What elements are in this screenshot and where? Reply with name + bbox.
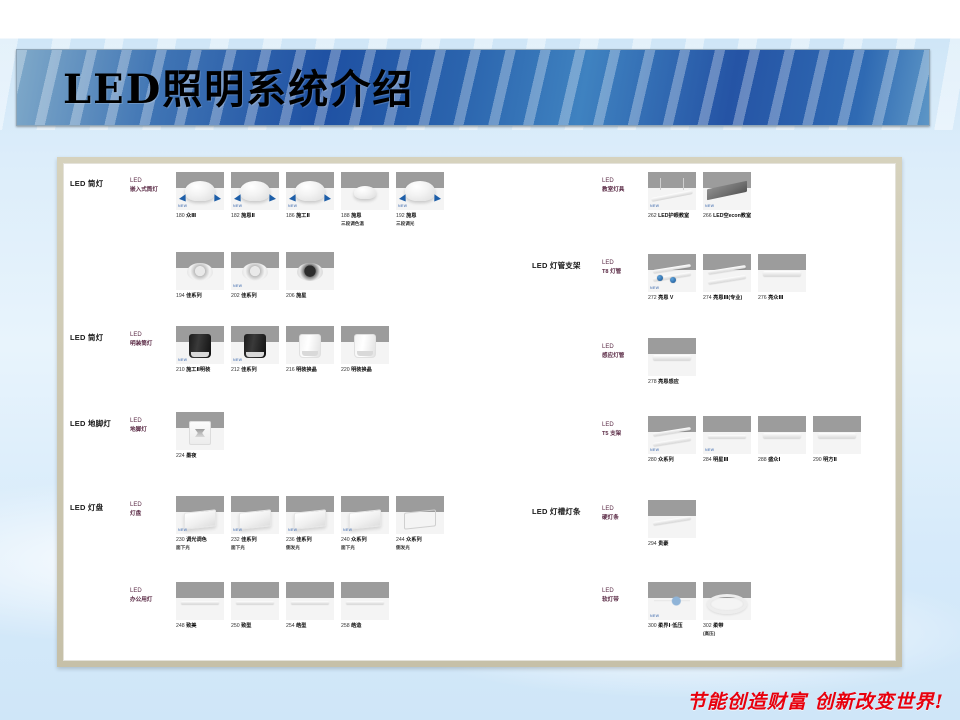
product-caption: 274 亮恩Ⅲ(专业) xyxy=(703,295,751,303)
thumb-top-band xyxy=(648,500,696,516)
new-badge: NEW xyxy=(705,204,714,208)
product-caption: 194 佳系列 xyxy=(176,293,224,301)
product-thumbnail xyxy=(286,326,334,364)
catalog-panel: LED 筒灯LED嵌入式筒灯NEW180 众ⅢNEW182 施恩ⅡNEW186 … xyxy=(63,163,896,661)
subcategory-label: LED办公用灯 xyxy=(130,587,152,605)
panel-light-shape xyxy=(349,509,381,529)
arrow-left-icon xyxy=(290,196,298,202)
new-badge: NEW xyxy=(288,528,297,532)
new-badge: NEW xyxy=(398,204,407,208)
product-thumbnail xyxy=(341,326,389,364)
subcategory-label: LED软灯带 xyxy=(602,587,619,605)
product-row: 278 亮恩感应 xyxy=(648,338,703,387)
product-name: 盛众Ⅰ xyxy=(767,457,781,463)
product-caption: 254 皓型 xyxy=(286,623,334,631)
new-badge: NEW xyxy=(650,614,659,618)
catalog-frame: LED 筒灯LED嵌入式筒灯NEW180 众ⅢNEW182 施恩ⅡNEW186 … xyxy=(57,157,902,667)
product-thumbnail xyxy=(286,582,334,620)
product-item[interactable]: NEW232 佳系列面下光 xyxy=(231,496,279,552)
product-name: 施工Ⅱ明装 xyxy=(185,367,211,373)
subcategory-cn: 灯盘 xyxy=(130,511,141,517)
arrow-right-icon xyxy=(322,196,330,202)
subcategory-en: LED xyxy=(130,331,152,340)
product-name: 皓造 xyxy=(350,623,362,629)
product-number: 236 xyxy=(286,537,295,543)
product-number: 254 xyxy=(286,623,295,629)
product-number: 240 xyxy=(341,537,350,543)
product-thumbnail: NEW xyxy=(176,496,224,534)
product-subcaption: 三段调色温 xyxy=(341,221,389,228)
thumb-top-band xyxy=(341,582,389,598)
product-item[interactable]: 206 施星 xyxy=(286,252,334,301)
product-number: 274 xyxy=(703,295,712,301)
product-thumbnail: NEW xyxy=(341,496,389,534)
thumb-top-band xyxy=(813,416,861,432)
product-caption: 244 众系列侧发光 xyxy=(396,537,444,552)
product-row: NEW262 LED护眼教室NEW266 LED空econ教室 xyxy=(648,172,758,221)
product-subcaption: 侧发光 xyxy=(396,545,444,552)
product-caption: 280 众系列 xyxy=(648,457,696,465)
product-name: 众系列 xyxy=(350,537,367,543)
product-item[interactable]: NEW262 LED护眼教室 xyxy=(648,172,696,221)
product-name: 施恩 xyxy=(405,213,417,219)
subcategory-en: LED xyxy=(602,505,619,514)
product-name: 明装换晶 xyxy=(350,367,372,373)
new-badge: NEW xyxy=(650,204,659,208)
footlight-shape xyxy=(189,421,211,445)
downlight-ring-shape xyxy=(242,263,268,281)
product-name: 墨夜 xyxy=(185,453,197,459)
product-caption: 266 LED空econ教室 xyxy=(703,213,751,221)
product-number: 276 xyxy=(758,295,767,301)
blue-cap-icon xyxy=(670,277,676,283)
product-number: 220 xyxy=(341,367,350,373)
product-thumbnail: NEW xyxy=(703,172,751,210)
product-thumbnail xyxy=(176,252,224,290)
blue-cap-icon xyxy=(657,275,663,281)
product-caption: 220 明装换晶 xyxy=(341,367,389,375)
product-number: 258 xyxy=(341,623,350,629)
led-strip-shape xyxy=(654,590,690,612)
tube-shape xyxy=(763,433,801,438)
slide-background: LED照明系统介绍 LED 筒灯LED嵌入式筒灯NEW180 众ⅢNEW182 … xyxy=(0,0,960,720)
thumb-top-band xyxy=(231,582,279,598)
product-number: 192 xyxy=(396,213,405,219)
new-badge: NEW xyxy=(288,204,297,208)
product-item[interactable]: NEW272 亮恩 V xyxy=(648,254,696,303)
subcategory-cn: 教室灯具 xyxy=(602,187,624,193)
product-name: 佳系列 xyxy=(185,293,202,299)
product-name: 明方Ⅱ xyxy=(822,457,837,463)
product-number: 272 xyxy=(648,295,657,301)
pendant-fixture-shape xyxy=(651,178,693,204)
product-thumbnail: NEW xyxy=(396,172,444,210)
product-name: 众Ⅲ xyxy=(185,213,197,219)
product-number: 216 xyxy=(286,367,295,373)
page-title: LED照明系统介绍 xyxy=(63,57,414,115)
product-number: 188 xyxy=(341,213,350,219)
product-item[interactable]: 250 致型 xyxy=(231,582,279,631)
product-caption: 302 柔带(高压) xyxy=(703,623,751,638)
column-divider xyxy=(519,164,520,660)
product-name: 施星 xyxy=(295,293,307,299)
product-name: 佳系列 xyxy=(295,537,312,543)
product-name: 亮众Ⅲ xyxy=(767,295,784,301)
arrow-left-icon xyxy=(180,196,188,202)
product-name: 致美 xyxy=(185,623,197,629)
product-subcaption: 三段调光 xyxy=(396,221,444,228)
product-caption: 192 施恩三段调光 xyxy=(396,213,444,228)
product-caption: 212 佳系列 xyxy=(231,367,279,375)
product-caption: 188 施恩三段调色温 xyxy=(341,213,389,228)
product-thumbnail xyxy=(703,254,751,292)
product-item[interactable]: 278 亮恩感应 xyxy=(648,338,696,387)
product-thumbnail xyxy=(758,254,806,292)
product-thumbnail: NEW xyxy=(176,172,224,210)
product-number: 266 xyxy=(703,213,712,219)
tube-shape xyxy=(181,601,219,604)
thumb-top-band xyxy=(286,496,334,512)
subcategory-en: LED xyxy=(602,421,621,430)
surface-downlight-shape xyxy=(354,334,376,358)
product-item[interactable]: NEW202 佳系列 xyxy=(231,252,279,301)
product-item[interactable]: 224 墨夜 xyxy=(176,412,224,461)
product-caption: 224 墨夜 xyxy=(176,453,224,461)
subcategory-label: LED感应灯管 xyxy=(602,343,624,361)
product-number: 280 xyxy=(648,457,657,463)
product-caption: 236 佳系列侧发光 xyxy=(286,537,334,552)
product-name: 众系列 xyxy=(405,537,422,543)
thumb-top-band xyxy=(758,416,806,432)
subcategory-cn: 感应灯管 xyxy=(602,353,624,359)
product-thumbnail: NEW xyxy=(286,496,334,534)
subcategory-cn: 嵌入式筒灯 xyxy=(130,187,158,193)
subcategory-cn: 硬灯条 xyxy=(602,515,619,521)
subcategory-label: LEDT5 支架 xyxy=(602,421,621,439)
product-thumbnail: NEW xyxy=(703,416,751,454)
product-caption: 202 佳系列 xyxy=(231,293,279,301)
product-thumbnail: NEW xyxy=(648,416,696,454)
product-item[interactable]: 194 佳系列 xyxy=(176,252,224,301)
subcategory-en: LED xyxy=(130,417,147,426)
product-caption: 180 众Ⅲ xyxy=(176,213,224,221)
product-thumbnail xyxy=(648,500,696,538)
product-name: 施工Ⅱ xyxy=(295,213,310,219)
arrow-left-icon xyxy=(400,196,408,202)
surface-downlight-shape xyxy=(244,334,266,358)
tube-shape xyxy=(346,601,384,604)
subcategory-label: LED灯盘 xyxy=(130,501,142,519)
category-label: LED 灯槽灯条 xyxy=(532,506,581,517)
thumb-top-band xyxy=(176,496,224,512)
category-label: LED 灯盘 xyxy=(70,502,103,513)
product-thumbnail xyxy=(396,496,444,534)
product-caption: 216 明装换晶 xyxy=(286,367,334,375)
product-row: NEW210 施工Ⅱ明装NEW212 佳系列216 明装换晶220 明装换晶 xyxy=(176,326,396,375)
product-number: 210 xyxy=(176,367,185,373)
product-subcaption: 侧发光 xyxy=(286,545,334,552)
product-caption: 284 明星Ⅲ xyxy=(703,457,751,465)
product-item[interactable]: NEW186 施工Ⅱ xyxy=(286,172,334,228)
product-thumbnail: NEW xyxy=(176,326,224,364)
product-number: 300 xyxy=(648,623,657,629)
thumb-top-band xyxy=(648,338,696,354)
product-item[interactable]: 288 盛众Ⅰ xyxy=(758,416,806,465)
product-number: 302 xyxy=(703,623,712,629)
product-number: 232 xyxy=(231,537,240,543)
product-name: 佳系列 xyxy=(240,293,257,299)
subcategory-cn: 明装筒灯 xyxy=(130,341,152,347)
product-caption: 210 施工Ⅱ明装 xyxy=(176,367,224,375)
product-number: 244 xyxy=(396,537,405,543)
subcategory-cn: 地脚灯 xyxy=(130,427,147,433)
panel-light-shape xyxy=(404,509,436,529)
product-thumbnail xyxy=(176,582,224,620)
product-caption: 300 柔界Ⅰ·低压 xyxy=(648,623,696,631)
product-thumbnail xyxy=(176,412,224,450)
product-item[interactable]: NEW240 众系列面下光 xyxy=(341,496,389,552)
product-item[interactable]: NEW230 调光调色面下光 xyxy=(176,496,224,552)
tube-shape xyxy=(653,355,691,360)
product-thumbnail xyxy=(286,252,334,290)
product-row: 294 贵豪 xyxy=(648,500,703,549)
new-badge: NEW xyxy=(705,448,714,452)
arrow-right-icon xyxy=(212,196,220,202)
product-name: 调光调色 xyxy=(185,537,207,543)
product-name: LED空econ教室 xyxy=(712,213,752,219)
product-item[interactable]: 294 贵豪 xyxy=(648,500,696,549)
product-row: 248 致美250 致型254 皓型258 皓造 xyxy=(176,582,396,631)
new-badge: NEW xyxy=(233,358,242,362)
product-thumbnail: NEW xyxy=(231,326,279,364)
product-number: 288 xyxy=(758,457,767,463)
product-number: 186 xyxy=(286,213,295,219)
product-item[interactable]: 220 明装换晶 xyxy=(341,326,389,375)
led-coil-shape xyxy=(707,594,747,614)
product-name: 明星Ⅲ xyxy=(712,457,729,463)
product-name: 柔带 xyxy=(712,623,724,629)
new-badge: NEW xyxy=(178,204,187,208)
new-badge: NEW xyxy=(178,528,187,532)
product-caption: 182 施恩Ⅱ xyxy=(231,213,279,221)
product-row: NEW180 众ⅢNEW182 施恩ⅡNEW186 施工Ⅱ188 施恩三段调色温… xyxy=(176,172,451,228)
subcategory-en: LED xyxy=(602,343,624,352)
product-item[interactable]: NEW280 众系列 xyxy=(648,416,696,465)
product-item[interactable]: NEW300 柔界Ⅰ·低压 xyxy=(648,582,696,638)
subcategory-cn: T5 支架 xyxy=(602,431,621,437)
new-badge: NEW xyxy=(233,284,242,288)
panel-light-shape xyxy=(239,509,271,529)
subcategory-cn: 办公用灯 xyxy=(130,597,152,603)
new-badge: NEW xyxy=(178,358,187,362)
thumb-top-band xyxy=(703,416,751,432)
product-subcaption: 面下光 xyxy=(231,545,279,552)
product-item[interactable]: 244 众系列侧发光 xyxy=(396,496,444,552)
product-caption: 258 皓造 xyxy=(341,623,389,631)
product-item[interactable]: NEW212 佳系列 xyxy=(231,326,279,375)
new-badge: NEW xyxy=(343,528,352,532)
arrow-right-icon xyxy=(267,196,275,202)
category-label: LED 灯管支架 xyxy=(532,260,581,271)
category-label: LED 筒灯 xyxy=(70,178,103,189)
product-name: 佳系列 xyxy=(240,537,257,543)
product-number: 206 xyxy=(286,293,295,299)
product-item[interactable]: NEW182 施恩Ⅱ xyxy=(231,172,279,228)
product-name: 众系列 xyxy=(657,457,674,463)
product-caption: 278 亮恩感应 xyxy=(648,379,696,387)
product-thumbnail xyxy=(341,582,389,620)
product-name: 亮恩 V xyxy=(657,295,674,301)
product-caption: 250 致型 xyxy=(231,623,279,631)
product-caption: 248 致美 xyxy=(176,623,224,631)
product-item[interactable]: NEW180 众Ⅲ xyxy=(176,172,224,228)
product-thumbnail: NEW xyxy=(231,172,279,210)
product-item[interactable]: 188 施恩三段调色温 xyxy=(341,172,389,228)
new-badge: NEW xyxy=(233,528,242,532)
new-badge: NEW xyxy=(233,204,242,208)
product-thumbnail: NEW xyxy=(648,254,696,292)
product-thumbnail xyxy=(758,416,806,454)
subcategory-en: LED xyxy=(130,587,152,596)
product-row: NEW230 调光调色面下光NEW232 佳系列面下光NEW236 佳系列侧发光… xyxy=(176,496,451,552)
product-number: 194 xyxy=(176,293,185,299)
product-number: 262 xyxy=(648,213,657,219)
new-badge: NEW xyxy=(650,286,659,290)
tube-shape xyxy=(763,271,801,276)
product-thumbnail: NEW xyxy=(231,252,279,290)
subcategory-en: LED xyxy=(602,177,624,186)
product-thumbnail xyxy=(703,582,751,620)
product-number: 212 xyxy=(231,367,240,373)
product-subcaption: 面下光 xyxy=(341,545,389,552)
product-number: 278 xyxy=(648,379,657,385)
product-thumbnail xyxy=(231,582,279,620)
product-item[interactable]: NEW210 施工Ⅱ明装 xyxy=(176,326,224,375)
product-name: 施恩 xyxy=(350,213,362,219)
subcategory-cn: T8 灯管 xyxy=(602,269,621,275)
product-name: 佳系列 xyxy=(240,367,257,373)
product-item[interactable]: 274 亮恩Ⅲ(专业) xyxy=(703,254,751,303)
product-thumbnail xyxy=(813,416,861,454)
arrow-right-icon xyxy=(432,196,440,202)
surface-downlight-shape xyxy=(299,334,321,358)
product-item[interactable]: 216 明装换晶 xyxy=(286,326,334,375)
product-caption: 230 调光调色面下光 xyxy=(176,537,224,552)
product-name: LED护眼教室 xyxy=(657,213,690,219)
panel-light-shape xyxy=(294,509,326,529)
product-item[interactable]: 258 皓造 xyxy=(341,582,389,631)
subcategory-label: LED硬灯条 xyxy=(602,505,619,523)
product-row: 224 墨夜 xyxy=(176,412,231,461)
product-caption: 206 施星 xyxy=(286,293,334,301)
product-item[interactable]: 276 亮众Ⅲ xyxy=(758,254,806,303)
product-thumbnail: NEW xyxy=(231,496,279,534)
subcategory-label: LED嵌入式筒灯 xyxy=(130,177,158,195)
product-name: 明装换晶 xyxy=(295,367,317,373)
product-number: 182 xyxy=(231,213,240,219)
tube-shape xyxy=(708,435,746,438)
subcategory-label: LED地脚灯 xyxy=(130,417,147,435)
product-row: NEW272 亮恩 V274 亮恩Ⅲ(专业)276 亮众Ⅲ xyxy=(648,254,813,303)
downlight-dome-shape xyxy=(354,186,376,199)
thumb-top-band xyxy=(396,496,444,512)
product-number: 284 xyxy=(703,457,712,463)
product-caption: 294 贵豪 xyxy=(648,541,696,549)
product-number: 202 xyxy=(231,293,240,299)
product-thumbnail: NEW xyxy=(286,172,334,210)
product-item[interactable]: 290 明方Ⅱ xyxy=(813,416,861,465)
product-row: NEW300 柔界Ⅰ·低压302 柔带(高压) xyxy=(648,582,758,638)
subcategory-en: LED xyxy=(130,177,158,186)
product-caption: 262 LED护眼教室 xyxy=(648,213,696,221)
product-number: 230 xyxy=(176,537,185,543)
product-caption: 290 明方Ⅱ xyxy=(813,457,861,465)
product-number: 180 xyxy=(176,213,185,219)
product-thumbnail: NEW xyxy=(648,582,696,620)
slogan-text: 节能创造财富 创新改变世界! xyxy=(687,687,944,714)
product-row: 194 佳系列NEW202 佳系列206 施星 xyxy=(176,252,341,301)
product-caption: 272 亮恩 V xyxy=(648,295,696,303)
product-caption: 288 盛众Ⅰ xyxy=(758,457,806,465)
product-caption: 186 施工Ⅱ xyxy=(286,213,334,221)
product-item[interactable]: 302 柔带(高压) xyxy=(703,582,751,638)
product-name: 施恩Ⅱ xyxy=(240,213,255,219)
subcategory-en: LED xyxy=(602,587,619,596)
product-name: 贵豪 xyxy=(657,541,669,547)
product-item[interactable]: NEW284 明星Ⅲ xyxy=(703,416,751,465)
product-subcaption: (高压) xyxy=(703,631,751,638)
product-row: NEW280 众系列NEW284 明星Ⅲ288 盛众Ⅰ290 明方Ⅱ xyxy=(648,416,868,465)
product-item[interactable]: NEW236 佳系列侧发光 xyxy=(286,496,334,552)
tube-shape xyxy=(818,433,856,438)
product-caption: 232 佳系列面下光 xyxy=(231,537,279,552)
product-thumbnail xyxy=(341,172,389,210)
arrow-left-icon xyxy=(235,196,243,202)
product-subcaption: 面下光 xyxy=(176,545,224,552)
slide-title-bar: LED照明系统介绍 xyxy=(16,49,930,126)
product-name: 皓型 xyxy=(295,623,307,629)
product-caption: 276 亮众Ⅲ xyxy=(758,295,806,303)
product-name: 柔界Ⅰ·低压 xyxy=(657,623,683,629)
product-number: 294 xyxy=(648,541,657,547)
tube-shape xyxy=(291,601,329,604)
product-thumbnail xyxy=(648,338,696,376)
product-caption: 240 众系列面下光 xyxy=(341,537,389,552)
product-name: 亮恩感应 xyxy=(657,379,679,385)
product-name: 致型 xyxy=(240,623,252,629)
subcategory-cn: 软灯带 xyxy=(602,597,619,603)
category-label: LED 地脚灯 xyxy=(70,418,111,429)
product-item[interactable]: NEW192 施恩三段调光 xyxy=(396,172,444,228)
product-item[interactable]: 254 皓型 xyxy=(286,582,334,631)
product-number: 250 xyxy=(231,623,240,629)
subcategory-en: LED xyxy=(602,259,621,268)
product-thumbnail: NEW xyxy=(648,172,696,210)
product-item[interactable]: NEW266 LED空econ教室 xyxy=(703,172,751,221)
product-item[interactable]: 248 致美 xyxy=(176,582,224,631)
product-number: 290 xyxy=(813,457,822,463)
tube-shape xyxy=(236,601,274,604)
thumb-top-band xyxy=(286,582,334,598)
downlight-ring-shape xyxy=(187,263,213,281)
thumb-top-band xyxy=(341,496,389,512)
subcategory-label: LED明装筒灯 xyxy=(130,331,152,349)
category-label: LED 筒灯 xyxy=(70,332,103,343)
thumb-top-band xyxy=(176,582,224,598)
product-name: 亮恩Ⅲ(专业) xyxy=(712,295,743,301)
subcategory-label: LEDT8 灯管 xyxy=(602,259,621,277)
subcategory-en: LED xyxy=(130,501,142,510)
